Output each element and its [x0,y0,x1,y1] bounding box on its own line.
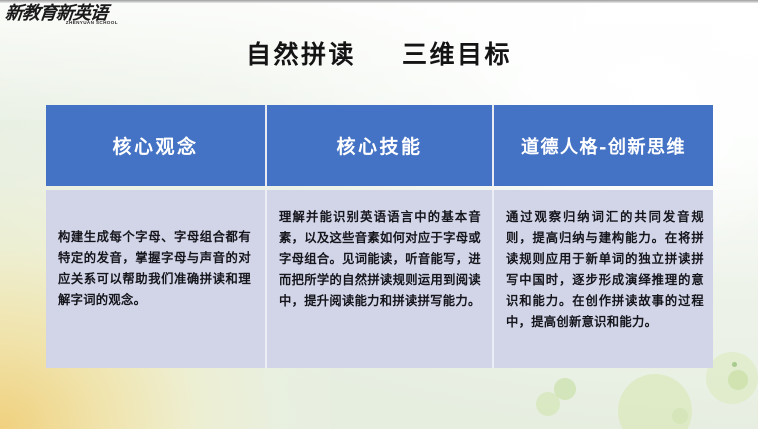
table-cell-core-concept: 构建生成每个字母、字母组合都有特定的发音，掌握字母与声音的对应关系可以帮助我们准… [46,190,267,368]
three-dimensional-goals-table: 核心观念 核心技能 道德人格-创新思维 构建生成每个字母、字母组合都有特定的发音… [46,105,713,368]
table-header-row: 核心观念 核心技能 道德人格-创新思维 [46,105,713,186]
decorative-circle-tiny [672,408,688,424]
logo-english-text: ZHENYUAN SCHOOL [66,20,118,25]
decorative-dot [732,362,737,367]
title-part-two: 三维目标 [402,40,512,69]
title-part-one: 自然拼读 [246,40,356,69]
presentation-slide: 新教育新英语 ZHENYUAN SCHOOL 自然拼读三维目标 核心观念 核心技… [0,0,758,429]
decorative-circle-small [728,370,748,390]
table-cell-moral-innovation: 通过观察归纳词汇的共同发音规则，提高归纳与建构能力。在将拼读规则应用于新单词的独… [494,190,713,368]
table-body-row: 构建生成每个字母、字母组合都有特定的发音，掌握字母与声音的对应关系可以帮助我们准… [46,190,713,368]
table-header-core-skill: 核心技能 [267,105,494,186]
decorative-circle-small [554,378,576,400]
slide-title: 自然拼读三维目标 [0,38,758,72]
table-header-core-concept: 核心观念 [46,105,267,186]
top-gray-strip [0,0,758,3]
school-logo: 新教育新英语 ZHENYUAN SCHOOL [5,4,140,30]
table-cell-core-skill: 理解并能识别英语语言中的基本音素，以及这些音素如何对应于字母或字母组合。见词能读… [267,190,494,368]
table-header-moral-innovation: 道德人格-创新思维 [494,105,713,186]
